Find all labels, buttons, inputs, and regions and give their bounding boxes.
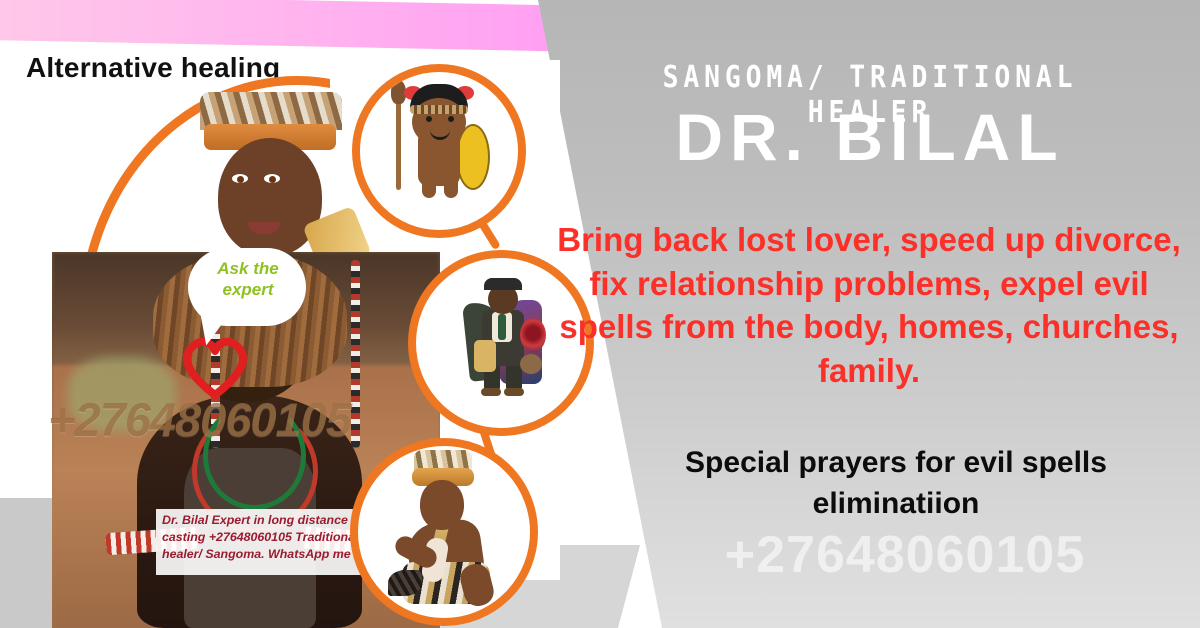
feathered-warrior-illustration-icon xyxy=(170,96,370,266)
crouching-warrior-illustration-icon xyxy=(350,438,538,626)
subheading-text: Special prayers for evil spells eliminat… xyxy=(600,443,1192,524)
ghost-phone-number: +27648060105 xyxy=(620,525,1190,585)
zulu-warrior-cartoon-icon xyxy=(352,64,526,238)
healer-name: DR. BILAL xyxy=(560,103,1180,172)
services-text: Bring back lost lover, speed up divorce,… xyxy=(548,218,1190,392)
poster-canvas: Alternative healing Ask the expert +2764… xyxy=(0,0,1200,628)
speech-bubble-label: Ask the expert xyxy=(196,258,300,301)
pink-accent-band xyxy=(0,0,600,52)
photo-caption: Dr. Bilal Expert in long distance castin… xyxy=(156,509,366,575)
photo-watermark-phone: +27648060105 xyxy=(48,392,468,447)
bottom-left-gray-strip xyxy=(0,498,54,628)
page-title: Alternative healing xyxy=(26,52,280,84)
